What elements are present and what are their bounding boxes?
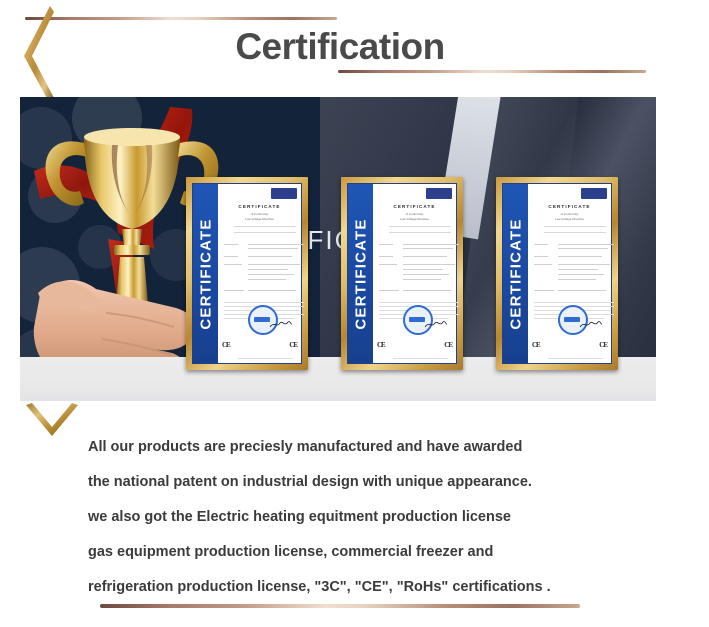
- certificate-footer-rule: [393, 358, 448, 359]
- certificate-inner: CERTIFICATE CERTIFICATE of Conformity Lo…: [347, 183, 457, 364]
- ce-mark-right: CE: [599, 341, 607, 349]
- certificate-signature: [269, 320, 293, 329]
- certificate-band-label: CERTIFICATE: [352, 218, 369, 329]
- certificate-footer-rule: [238, 358, 293, 359]
- certificate-subheading: Low Voltage Directive: [218, 217, 301, 221]
- certificate-subheading: Low Voltage Directive: [373, 217, 456, 221]
- page-title: Certification: [180, 24, 500, 70]
- description-line: refrigeration production license, "3C", …: [88, 570, 688, 605]
- certificate-subheading: of Conformity: [218, 212, 301, 216]
- chevron-down-icon: [26, 403, 78, 437]
- certificate-signature: [424, 320, 448, 329]
- certificate-inner: CERTIFICATE CERTIFICATE of Conformity Lo…: [192, 183, 302, 364]
- title-divider-rule: [338, 70, 646, 73]
- certificate-card[interactable]: CERTIFICATE CERTIFICATE of Conformity Lo…: [496, 177, 618, 370]
- description-line: gas equipment production license, commer…: [88, 535, 688, 570]
- certificate-subheading: of Conformity: [528, 212, 611, 216]
- chevron-left-icon: [20, 6, 54, 104]
- certificate-body: CERTIFICATE of Conformity Low Voltage Di…: [218, 184, 301, 363]
- certificate-heading: CERTIFICATE: [528, 204, 611, 209]
- certificate-heading: CERTIFICATE: [373, 204, 456, 209]
- certificate-footer-rule: [548, 358, 603, 359]
- certificate-card[interactable]: CERTIFICATE CERTIFICATE of Conformity Lo…: [186, 177, 308, 370]
- certificate-heading: CERTIFICATE: [218, 204, 301, 209]
- top-divider-rule: [25, 17, 337, 20]
- certificate-logo-icon: [581, 188, 607, 199]
- certificate-body: CERTIFICATE of Conformity Low Voltage Di…: [373, 184, 456, 363]
- ce-mark-right: CE: [289, 341, 297, 349]
- certificate-side-band: CERTIFICATE: [348, 184, 373, 363]
- certificate-subheading: of Conformity: [373, 212, 456, 216]
- ce-mark-left: CE: [377, 341, 385, 349]
- description-line: All our products are preciesly manufactu…: [88, 430, 688, 465]
- description-line: we also got the Electric heating equitme…: [88, 500, 688, 535]
- certification-page: Certification: [0, 0, 709, 627]
- ce-mark-left: CE: [222, 341, 230, 349]
- certificate-side-band: CERTIFICATE: [193, 184, 218, 363]
- certificate-side-band: CERTIFICATE: [503, 184, 528, 363]
- certificate-logo-icon: [426, 188, 452, 199]
- certificate-body: CERTIFICATE of Conformity Low Voltage Di…: [528, 184, 611, 363]
- description-line: the national patent on industrial design…: [88, 465, 688, 500]
- certificate-band-label: CERTIFICATE: [507, 218, 524, 329]
- certificate-signature: [579, 320, 603, 329]
- certificate-logo-icon: [271, 188, 297, 199]
- certificate-inner: CERTIFICATE CERTIFICATE of Conformity Lo…: [502, 183, 612, 364]
- certificate-card[interactable]: CERTIFICATE CERTIFICATE of Conformity Lo…: [341, 177, 463, 370]
- bottom-divider-rule: [100, 604, 580, 608]
- description-block: All our products are preciesly manufactu…: [88, 430, 688, 605]
- ce-mark-right: CE: [444, 341, 452, 349]
- certificate-band-label: CERTIFICATE: [197, 218, 214, 329]
- ce-mark-left: CE: [532, 341, 540, 349]
- certificate-subheading: Low Voltage Directive: [528, 217, 611, 221]
